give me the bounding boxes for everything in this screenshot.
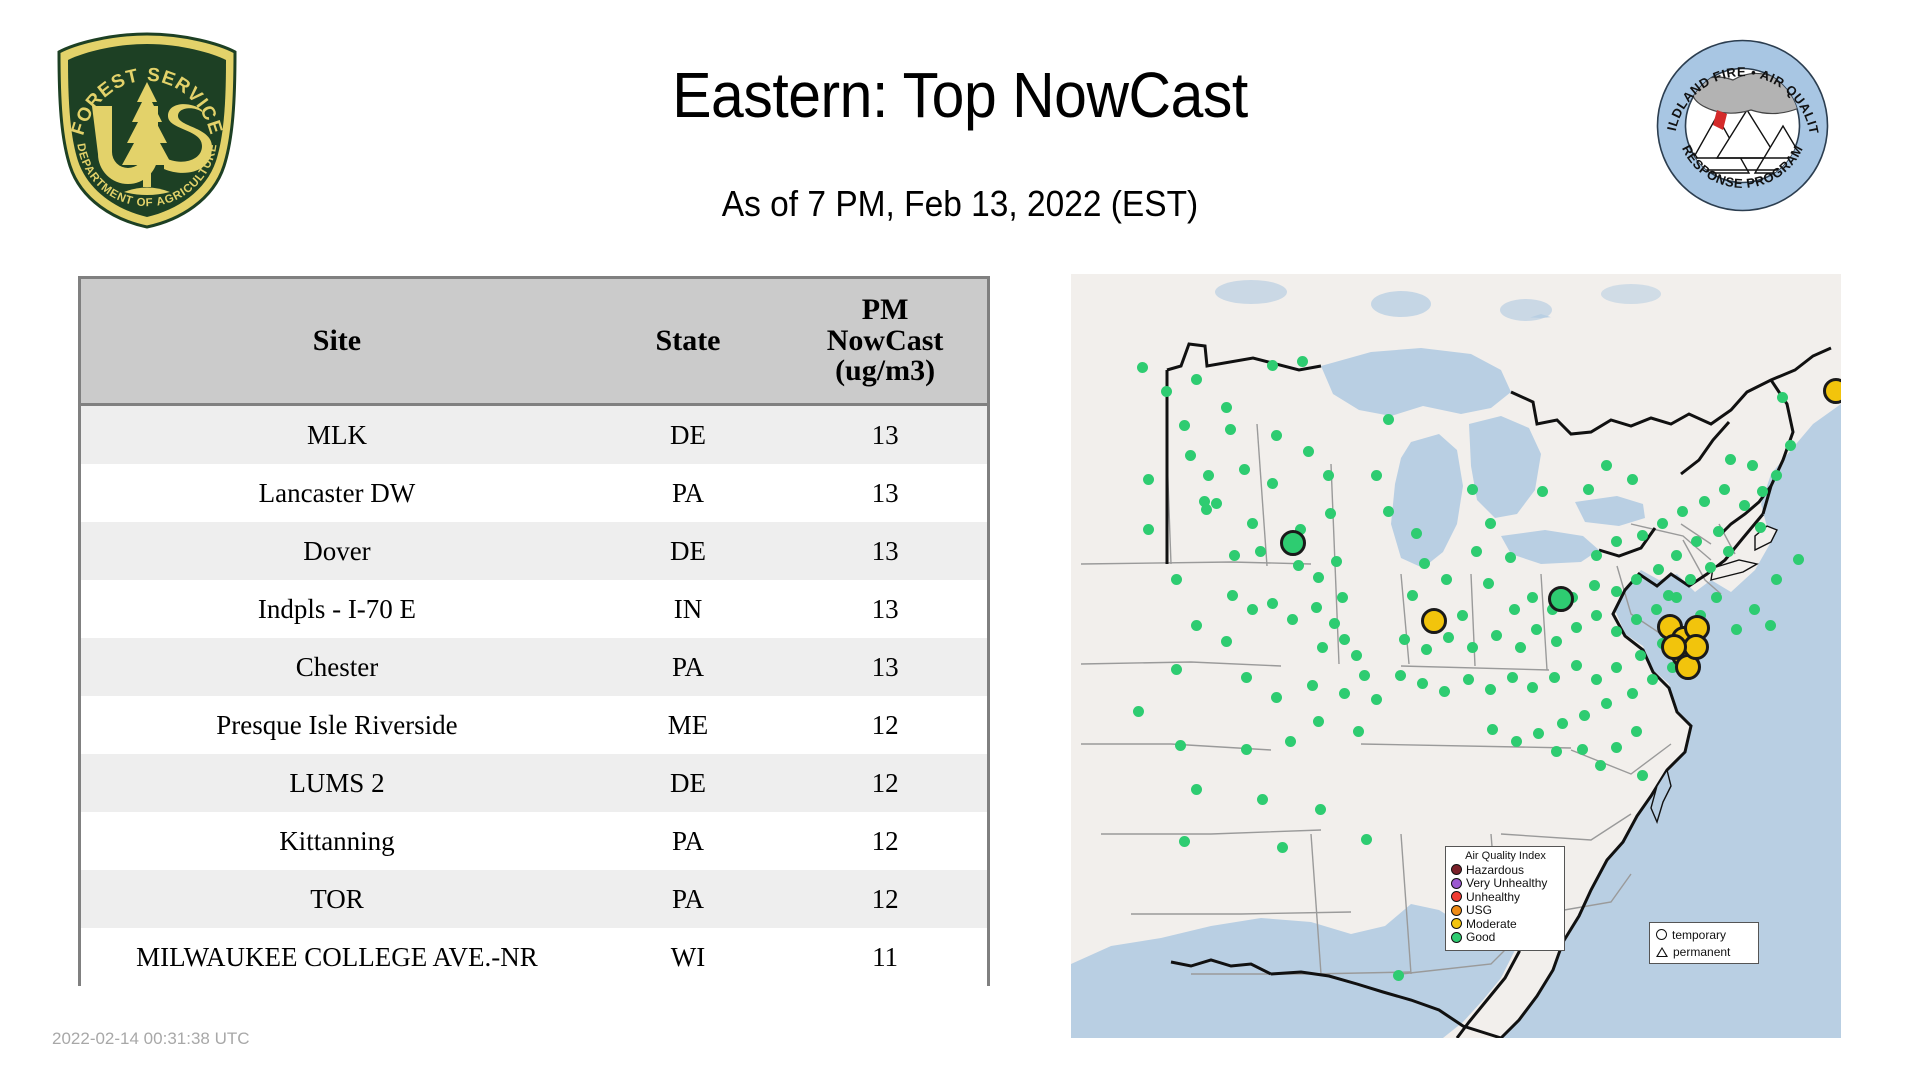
monitor-dot-good[interactable] <box>1627 474 1638 485</box>
monitor-dot-good[interactable] <box>1371 694 1382 705</box>
cell-pm: 12 <box>783 812 987 870</box>
cell-pm: 13 <box>783 638 987 696</box>
monitor-dot-good[interactable] <box>1527 682 1538 693</box>
monitor-dot-good[interactable] <box>1723 546 1734 557</box>
cell-pm: 12 <box>783 696 987 754</box>
monitor-dot-good[interactable] <box>1441 574 1452 585</box>
monitor-dot-good[interactable] <box>1201 504 1212 515</box>
monitor-dot-good[interactable] <box>1611 536 1622 547</box>
cell-pm: 12 <box>783 754 987 812</box>
page-title: Eastern: Top NowCast <box>77 58 1843 132</box>
site-legend-item-permanent: permanent <box>1656 943 1754 960</box>
aqi-legend-item-good: Good <box>1451 931 1560 945</box>
monitor-dot-good[interactable] <box>1227 590 1238 601</box>
monitor-dot-good[interactable] <box>1393 970 1404 981</box>
monitor-dot-good[interactable] <box>1765 620 1776 631</box>
monitor-dot-good[interactable] <box>1211 498 1222 509</box>
cell-site: Indpls - I-70 E <box>81 580 593 638</box>
aqi-legend-label: Moderate <box>1466 918 1517 930</box>
monitor-dot-good[interactable] <box>1631 574 1642 585</box>
table-row: Indpls - I-70 E IN 13 <box>81 580 987 638</box>
cell-site: Dover <box>81 522 593 580</box>
monitor-dot-good[interactable] <box>1637 770 1648 781</box>
table-row: Lancaster DW PA 13 <box>81 464 987 522</box>
monitor-dot-good[interactable] <box>1137 362 1148 373</box>
cell-state: PA <box>593 464 783 522</box>
table-row: Dover DE 13 <box>81 522 987 580</box>
monitor-dot-good[interactable] <box>1229 550 1240 561</box>
monitor-dot-good[interactable] <box>1507 672 1518 683</box>
cell-pm: 13 <box>783 464 987 522</box>
cell-pm: 13 <box>783 405 987 465</box>
monitor-dot-good[interactable] <box>1221 636 1232 647</box>
monitor-dot-good[interactable] <box>1583 484 1594 495</box>
monitor-dot-good[interactable] <box>1601 460 1612 471</box>
monitor-dot-good[interactable] <box>1339 634 1350 645</box>
monitor-dot-good[interactable] <box>1739 500 1750 511</box>
monitor-dot-good[interactable] <box>1657 518 1668 529</box>
monitor-dot-good[interactable] <box>1635 650 1646 661</box>
monitor-dot-good[interactable] <box>1267 598 1278 609</box>
monitor-dot-good[interactable] <box>1277 842 1288 853</box>
monitor-dot-good[interactable] <box>1361 834 1372 845</box>
aqi-swatch-good-icon <box>1451 932 1462 943</box>
pm-header-line-1: PM <box>783 295 987 326</box>
cell-state: DE <box>593 405 783 465</box>
monitor-dot-good[interactable] <box>1647 674 1658 685</box>
monitor-dot-good[interactable] <box>1515 642 1526 653</box>
table-row: Kittanning PA 12 <box>81 812 987 870</box>
aqi-legend-title: Air Quality Index <box>1451 850 1560 862</box>
monitor-dot-good[interactable] <box>1411 528 1422 539</box>
monitor-dot-good[interactable] <box>1417 678 1428 689</box>
monitor-dot-good[interactable] <box>1755 522 1766 533</box>
monitor-dot-good[interactable] <box>1551 636 1562 647</box>
monitor-dot-good[interactable] <box>1571 622 1582 633</box>
monitor-dot-good[interactable] <box>1637 530 1648 541</box>
monitor-dot-good[interactable] <box>1239 464 1250 475</box>
monitor-dot-good[interactable] <box>1467 642 1478 653</box>
site-legend-item-temporary: temporary <box>1656 926 1754 943</box>
monitor-dot-good[interactable] <box>1407 590 1418 601</box>
monitor-dot-good[interactable] <box>1705 562 1716 573</box>
monitor-dot-good[interactable] <box>1337 592 1348 603</box>
table-row: Chester PA 13 <box>81 638 987 696</box>
monitor-highlight-kittanning[interactable] <box>1548 586 1574 612</box>
monitor-dot-good[interactable] <box>1271 430 1282 441</box>
monitor-dot-good[interactable] <box>1331 556 1342 567</box>
monitor-dot-good[interactable] <box>1257 794 1268 805</box>
monitor-dot-good[interactable] <box>1297 356 1308 367</box>
monitor-dot-good[interactable] <box>1627 688 1638 699</box>
monitor-dot-good[interactable] <box>1777 392 1788 403</box>
monitor-dot-good[interactable] <box>1439 686 1450 697</box>
monitor-dot-good[interactable] <box>1577 744 1588 755</box>
cell-site: Chester <box>81 638 593 696</box>
monitor-dot-good[interactable] <box>1339 688 1350 699</box>
monitor-dot-good[interactable] <box>1771 574 1782 585</box>
monitor-dot-good[interactable] <box>1353 726 1364 737</box>
monitor-dot-good[interactable] <box>1171 574 1182 585</box>
monitor-dot-good[interactable] <box>1771 470 1782 481</box>
aqi-swatch-hazardous-icon <box>1451 864 1462 875</box>
column-header-pm-nowcast: PM NowCast (ug/m3) <box>783 279 987 405</box>
monitor-dot-good[interactable] <box>1191 784 1202 795</box>
monitor-dot-good[interactable] <box>1785 440 1796 451</box>
monitor-dot-good[interactable] <box>1395 670 1406 681</box>
monitor-dot-good[interactable] <box>1175 740 1186 751</box>
monitor-dot-good[interactable] <box>1161 386 1172 397</box>
monitor-dot-good[interactable] <box>1531 624 1542 635</box>
cell-site: MILWAUKEE COLLEGE AVE.-NR <box>81 928 593 986</box>
monitor-dot-good[interactable] <box>1323 470 1334 481</box>
monitor-dot-good[interactable] <box>1651 604 1662 615</box>
monitor-dot-good[interactable] <box>1549 672 1560 683</box>
site-legend-label: permanent <box>1673 945 1730 959</box>
monitor-dot-good[interactable] <box>1595 760 1606 771</box>
monitor-dot-good[interactable] <box>1671 550 1682 561</box>
monitor-dot-good[interactable] <box>1505 552 1516 563</box>
monitor-dot-good[interactable] <box>1221 402 1232 413</box>
aqi-swatch-unhealthy-icon <box>1451 891 1462 902</box>
monitor-dot-good[interactable] <box>1143 524 1154 535</box>
monitor-dot-good[interactable] <box>1663 590 1674 601</box>
monitor-dot-good[interactable] <box>1611 586 1622 597</box>
cell-state: DE <box>593 522 783 580</box>
monitor-dot-good[interactable] <box>1487 724 1498 735</box>
monitor-dot-good[interactable] <box>1571 660 1582 671</box>
cell-state: PA <box>593 638 783 696</box>
monitor-dot-good[interactable] <box>1185 450 1196 461</box>
monitor-dot-good[interactable] <box>1527 592 1538 603</box>
monitor-dot-good[interactable] <box>1241 672 1252 683</box>
monitor-dot-good[interactable] <box>1191 620 1202 631</box>
monitor-dot-good[interactable] <box>1191 374 1202 385</box>
aqi-legend-item-usg: USG <box>1451 904 1560 918</box>
monitor-dot-good[interactable] <box>1653 564 1664 575</box>
monitor-dot-good[interactable] <box>1591 610 1602 621</box>
circle-marker-icon <box>1656 929 1667 940</box>
monitor-dot-good[interactable] <box>1483 578 1494 589</box>
monitor-dot-good[interactable] <box>1463 674 1474 685</box>
table-row: MILWAUKEE COLLEGE AVE.-NR WI 11 <box>81 928 987 986</box>
monitor-dot-good[interactable] <box>1179 420 1190 431</box>
monitor-dot-good[interactable] <box>1537 486 1548 497</box>
monitor-dot-good[interactable] <box>1509 604 1520 615</box>
table-row: Presque Isle Riverside ME 12 <box>81 696 987 754</box>
monitor-dot-good[interactable] <box>1591 550 1602 561</box>
monitor-dot-good[interactable] <box>1307 680 1318 691</box>
cell-pm: 13 <box>783 522 987 580</box>
monitor-dot-good[interactable] <box>1313 572 1324 583</box>
monitor-dot-good[interactable] <box>1611 742 1622 753</box>
monitor-dot-good[interactable] <box>1329 618 1340 629</box>
monitor-dot-good[interactable] <box>1793 554 1804 565</box>
monitor-highlight-indpls-i-70-e[interactable] <box>1421 608 1447 634</box>
footer-timestamp: 2022-02-14 00:31:38 UTC <box>52 1029 250 1049</box>
cell-pm: 11 <box>783 928 987 986</box>
monitor-dot-good[interactable] <box>1485 518 1496 529</box>
monitor-dot-good[interactable] <box>1611 626 1622 637</box>
monitor-dot-good[interactable] <box>1749 604 1760 615</box>
monitor-dot-good[interactable] <box>1457 610 1468 621</box>
monitor-dot-good[interactable] <box>1533 728 1544 739</box>
cell-state: WI <box>593 928 783 986</box>
monitor-dot-good[interactable] <box>1591 674 1602 685</box>
monitor-dot-good[interactable] <box>1611 662 1622 673</box>
aqi-legend-label: Very Unhealthy <box>1466 877 1547 889</box>
monitor-dot-good[interactable] <box>1719 484 1730 495</box>
cell-state: DE <box>593 754 783 812</box>
cell-state: PA <box>593 870 783 928</box>
site-type-legend: temporary permanent <box>1649 922 1759 964</box>
monitor-dot-good[interactable] <box>1601 698 1612 709</box>
monitor-dot-good[interactable] <box>1287 614 1298 625</box>
monitor-dot-good[interactable] <box>1241 744 1252 755</box>
monitor-dot-good[interactable] <box>1485 684 1496 695</box>
cell-site: MLK <box>81 405 593 465</box>
monitor-dot-good[interactable] <box>1757 486 1768 497</box>
monitor-dot-good[interactable] <box>1225 424 1236 435</box>
monitor-dot-good[interactable] <box>1203 470 1214 481</box>
monitor-dot-good[interactable] <box>1471 546 1482 557</box>
monitor-dot-good[interactable] <box>1551 746 1562 757</box>
monitor-dot-good[interactable] <box>1747 460 1758 471</box>
cell-site: LUMS 2 <box>81 754 593 812</box>
monitor-dot-good[interactable] <box>1699 496 1710 507</box>
monitor-dot-good[interactable] <box>1325 508 1336 519</box>
page-subtitle: As of 7 PM, Feb 13, 2022 (EST) <box>67 183 1853 225</box>
monitor-dot-good[interactable] <box>1419 558 1430 569</box>
monitor-dot-good[interactable] <box>1713 526 1724 537</box>
monitor-dot-good[interactable] <box>1677 506 1688 517</box>
monitor-dot-good[interactable] <box>1371 470 1382 481</box>
aqi-swatch-usg-icon <box>1451 905 1462 916</box>
monitor-dot-good[interactable] <box>1399 634 1410 645</box>
monitor-dot-good[interactable] <box>1511 736 1522 747</box>
aqi-legend-item-very-unhealthy: Very Unhealthy <box>1451 877 1560 891</box>
table-header-row: Site State PM NowCast (ug/m3) <box>81 279 987 405</box>
top-nowcast-table: Site State PM NowCast (ug/m3) MLK DE 13 … <box>78 276 990 986</box>
monitor-dot-good[interactable] <box>1725 454 1736 465</box>
monitor-dot-good[interactable] <box>1303 446 1314 457</box>
cell-site: TOR <box>81 870 593 928</box>
monitor-dot-good[interactable] <box>1467 484 1478 495</box>
monitor-dot-good[interactable] <box>1631 614 1642 625</box>
monitor-dot-good[interactable] <box>1267 360 1278 371</box>
monitor-dot-good[interactable] <box>1311 602 1322 613</box>
cell-state: ME <box>593 696 783 754</box>
table-row: TOR PA 12 <box>81 870 987 928</box>
monitor-dot-good[interactable] <box>1557 718 1568 729</box>
monitor-dot-good[interactable] <box>1143 474 1154 485</box>
site-legend-label: temporary <box>1672 928 1726 942</box>
monitor-highlight-milwaukee-college-ave-nr[interactable] <box>1280 530 1306 556</box>
monitor-dot-good[interactable] <box>1255 546 1266 557</box>
monitor-dot-good[interactable] <box>1579 710 1590 721</box>
monitor-dot-good[interactable] <box>1271 692 1282 703</box>
monitor-dot-good[interactable] <box>1691 536 1702 547</box>
monitor-dot-good[interactable] <box>1383 506 1394 517</box>
aqi-legend-item-hazardous: Hazardous <box>1451 863 1560 877</box>
monitor-dot-good[interactable] <box>1247 518 1258 529</box>
monitor-dot-good[interactable] <box>1443 632 1454 643</box>
monitor-dot-good[interactable] <box>1631 726 1642 737</box>
monitor-dot-good[interactable] <box>1285 736 1296 747</box>
table-row: MLK DE 13 <box>81 405 987 465</box>
monitor-dot-good[interactable] <box>1179 836 1190 847</box>
cell-pm: 13 <box>783 580 987 638</box>
monitor-dot-good[interactable] <box>1731 624 1742 635</box>
aqi-legend-label: Good <box>1466 931 1495 943</box>
monitor-dot-good[interactable] <box>1589 580 1600 591</box>
monitor-dot-good[interactable] <box>1359 670 1370 681</box>
monitor-dot-good[interactable] <box>1421 644 1432 655</box>
table-row: LUMS 2 DE 12 <box>81 754 987 812</box>
pm-header-line-3: (ug/m3) <box>783 356 987 387</box>
aqi-legend-label: Unhealthy <box>1466 891 1520 903</box>
aqi-legend-label: USG <box>1466 904 1492 916</box>
monitor-dot-good[interactable] <box>1383 414 1394 425</box>
monitor-highlight-tor[interactable] <box>1661 634 1687 660</box>
monitor-dot-good[interactable] <box>1317 642 1328 653</box>
aqi-swatch-very-unhealthy-icon <box>1451 878 1462 889</box>
column-header-site: Site <box>81 279 593 405</box>
monitor-dot-good[interactable] <box>1267 478 1278 489</box>
cell-site: Presque Isle Riverside <box>81 696 593 754</box>
monitor-dot-good[interactable] <box>1351 650 1362 661</box>
air-quality-monitor-map[interactable]: Air Quality Index Hazardous Very Unhealt… <box>1071 274 1841 1038</box>
monitor-dot-good[interactable] <box>1247 604 1258 615</box>
cell-site: Kittanning <box>81 812 593 870</box>
cell-state: PA <box>593 812 783 870</box>
monitor-dot-good[interactable] <box>1293 560 1304 571</box>
aqi-legend: Air Quality Index Hazardous Very Unhealt… <box>1445 846 1565 951</box>
monitor-dot-good[interactable] <box>1133 706 1144 717</box>
monitor-dot-good[interactable] <box>1315 804 1326 815</box>
monitor-dot-good[interactable] <box>1313 716 1324 727</box>
cell-pm: 12 <box>783 870 987 928</box>
aqi-swatch-moderate-icon <box>1451 918 1462 929</box>
monitor-dot-good[interactable] <box>1711 592 1722 603</box>
monitor-dot-good[interactable] <box>1685 574 1696 585</box>
column-header-state: State <box>593 279 783 405</box>
aqi-legend-item-moderate: Moderate <box>1451 917 1560 931</box>
triangle-marker-icon <box>1656 947 1668 957</box>
cell-state: IN <box>593 580 783 638</box>
aqi-legend-item-unhealthy: Unhealthy <box>1451 890 1560 904</box>
aqi-legend-label: Hazardous <box>1466 864 1524 876</box>
cell-site: Lancaster DW <box>81 464 593 522</box>
monitor-dot-good[interactable] <box>1171 664 1182 675</box>
monitor-dot-good[interactable] <box>1491 630 1502 641</box>
pm-header-line-2: NowCast <box>783 326 987 357</box>
